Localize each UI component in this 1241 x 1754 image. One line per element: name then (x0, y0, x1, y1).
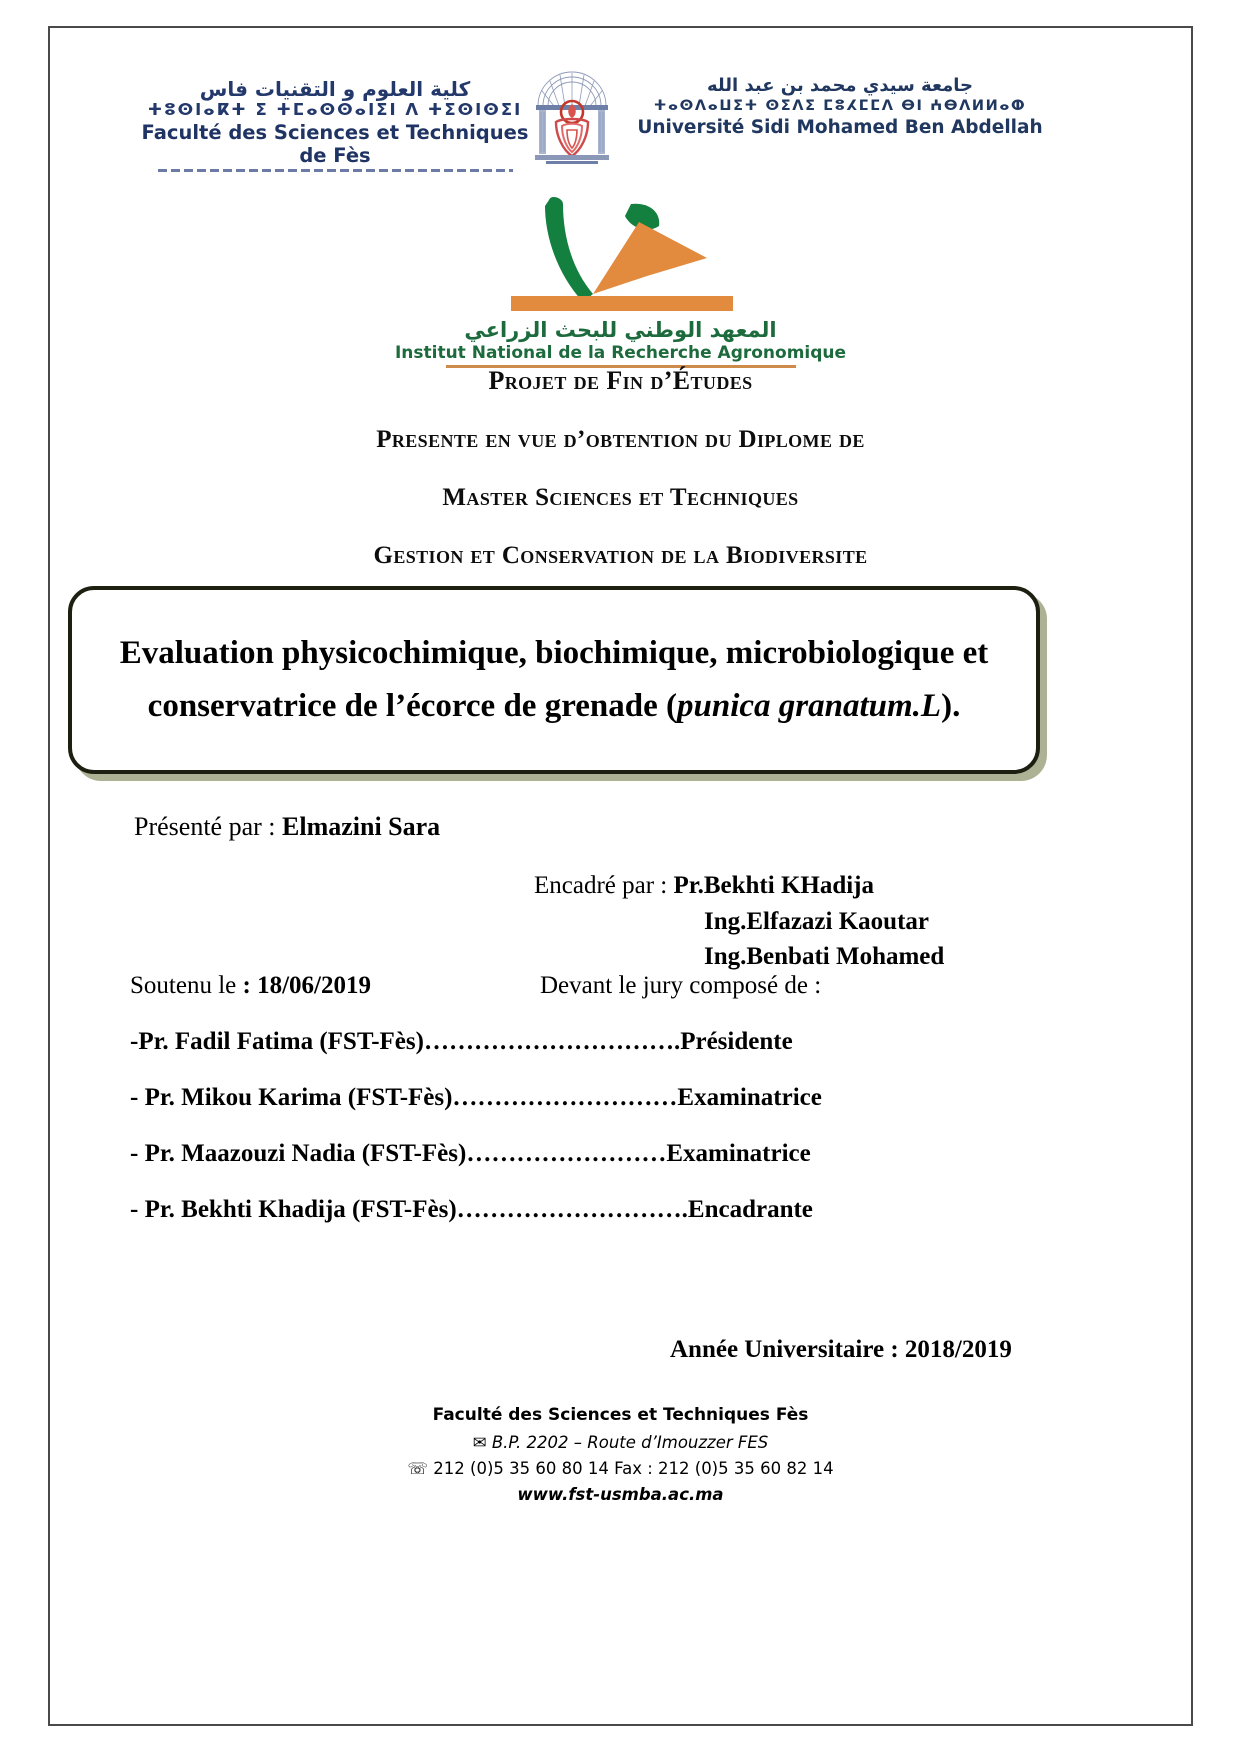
supervisor-line-3: Ing.Benbati Mohamed (534, 939, 944, 975)
inra-arabic-name: المعهد الوطني للبحث الزراعي (0, 319, 1241, 342)
inra-sprout-logo-icon (471, 182, 771, 317)
inra-logo-block: المعهد الوطني للبحث الزراعي Institut Nat… (0, 182, 1241, 368)
author-name: Elmazini Sara (282, 812, 440, 841)
supervisor-name-2: Ing.Elfazazi Kaoutar (704, 908, 929, 935)
fst-tifinagh-name: ⵜⵓⵙⵏⴰⴽⵜ ⵉ ⵜⵎⴰⵙⵙⴰⵏⵉⵏ ⴷ ⵜⵉⵙⵏⵙⵉⵏ (125, 100, 545, 121)
telephone-icon: ☏ (407, 1459, 428, 1478)
university-french-name: Université Sidi Mohamed Ben Abdellah (630, 116, 1050, 139)
university-seal-icon (522, 60, 622, 168)
jury-list: -Pr. Fadil Fatima (FST-Fès)………………………….Pr… (130, 1028, 1050, 1252)
university-name-block: جامعة سيدي محمد بن عبد الله ⵜⴰⵙⴷⴰⵡⵉⵜ ⵙⵉⴷ… (630, 76, 1050, 139)
footer-phone-line: ☏ 212 (0)5 35 60 80 14 Fax : 212 (0)5 35… (0, 1459, 1241, 1478)
fst-logo-block: كلية العلوم و التقنيات فاس ⵜⵓⵙⵏⴰⴽⵜ ⵉ ⵜⵎⴰ… (125, 78, 545, 172)
supervisors-block: Encadré par : Pr.Bekhti KHadija Ing.Elfa… (534, 868, 944, 975)
defense-date-value: : 18/06/2019 (243, 972, 371, 999)
jury-member-4: - Pr. Bekhti Khadija (FST-Fès)……………………….… (130, 1196, 1050, 1224)
jury-member-3: - Pr. Maazouzi Nadia (FST-Fès)……………………Ex… (130, 1140, 1050, 1168)
fst-underline-rule (158, 169, 513, 172)
fst-arabic-name: كلية العلوم و التقنيات فاس (125, 78, 545, 100)
heading-master-sciences-techniques: Master Sciences et Techniques (0, 484, 1241, 512)
defense-date-label: Soutenu le (130, 972, 243, 999)
thesis-title-part2: ). (941, 688, 960, 724)
page-footer: Faculté des Sciences et Techniques Fès ✉… (0, 1405, 1241, 1504)
academic-year: Année Universitaire : 2018/2019 (670, 1336, 1012, 1364)
footer-phone: 212 (0)5 35 60 80 14 Fax : 212 (0)5 35 6… (433, 1459, 833, 1478)
jury-label: Devant le jury composé de : (540, 972, 821, 999)
supervised-by-label: Encadré par : (534, 872, 674, 899)
presented-by-line: Présenté par : Elmazini Sara (134, 812, 440, 842)
defense-row: Soutenu le : 18/06/2019Devant le jury co… (130, 972, 1030, 1000)
presented-by-label: Présenté par : (134, 812, 282, 841)
degree-headings: Projet de Fin d’Études Presente en vue d… (0, 366, 1241, 570)
university-tifinagh-name: ⵜⴰⵙⴷⴰⵡⵉⵜ ⵙⵉⴷⵉ ⵎⵓⵃⵎⵎⴷ ⴱⵏ ⵄⴱⴷⵍⵍⴰⵀ (630, 97, 1050, 116)
heading-projet-fin-etudes: Projet de Fin d’Études (0, 366, 1241, 396)
heading-presente-en-vue: Presente en vue d’obtention du Diplome d… (0, 426, 1241, 454)
thesis-title: Evaluation physicochimique, biochimique,… (72, 627, 1036, 734)
inra-french-name: Institut National de la Recherche Agrono… (0, 343, 1241, 363)
supervisor-name-1: Pr.Bekhti KHadija (674, 872, 875, 899)
thesis-title-box: Evaluation physicochimique, biochimique,… (68, 586, 1040, 774)
footer-address-line: ✉ B.P. 2202 – Route d’Imouzzer FES (0, 1433, 1241, 1452)
supervisor-line-2: Ing.Elfazazi Kaoutar (534, 904, 944, 940)
supervisor-name-3: Ing.Benbati Mohamed (704, 943, 944, 970)
footer-address: B.P. 2202 – Route d’Imouzzer FES (492, 1433, 768, 1452)
university-arabic-name: جامعة سيدي محمد بن عبد الله (630, 76, 1050, 97)
header-logos: كلية العلوم و التقنيات فاس ⵜⵓⵙⵏⴰⴽⵜ ⵉ ⵜⵎⴰ… (70, 58, 1170, 173)
footer-website: www.fst-usmba.ac.ma (0, 1485, 1241, 1504)
envelope-icon: ✉ (473, 1433, 487, 1452)
jury-member-1: -Pr. Fadil Fatima (FST-Fès)………………………….Pr… (130, 1028, 1050, 1056)
thesis-title-species: punica granatum.L (677, 688, 941, 724)
supervisor-line-1: Encadré par : Pr.Bekhti KHadija (534, 868, 944, 904)
footer-faculty-name: Faculté des Sciences et Techniques Fès (0, 1405, 1241, 1425)
heading-gestion-conservation-biodiversite: Gestion et Conservation de la Biodiversi… (0, 542, 1241, 570)
jury-member-2: - Pr. Mikou Karima (FST-Fès)………………………Exa… (130, 1084, 1050, 1112)
thesis-cover-page: كلية العلوم و التقنيات فاس ⵜⵓⵙⵏⴰⴽⵜ ⵉ ⵜⵎⴰ… (0, 0, 1241, 1754)
fst-french-name: Faculté des Sciences et Techniques de Fè… (125, 121, 545, 168)
defense-date-block: Soutenu le : 18/06/2019 (130, 972, 540, 1000)
